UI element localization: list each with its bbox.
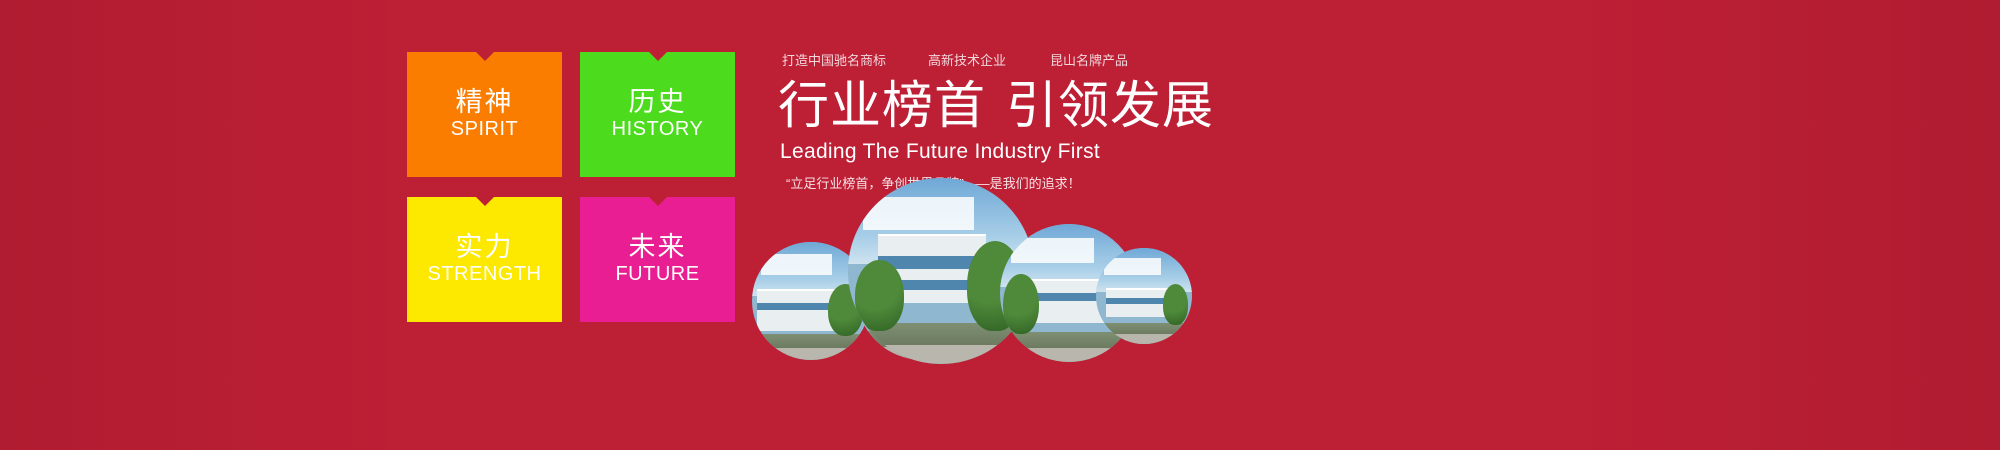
building-band xyxy=(1106,298,1169,304)
badge-hightech: 高新技术企业 xyxy=(928,52,1006,70)
tile-spirit-cn: 精神 xyxy=(456,87,514,117)
tile-strength-cn: 实力 xyxy=(456,232,514,262)
tile-spirit-en: SPIRIT xyxy=(451,117,518,142)
tile-history-en: HISTORY xyxy=(612,117,704,142)
bubble-far-photo xyxy=(1096,248,1192,344)
tile-future-en: FUTURE xyxy=(615,262,699,287)
tile-spirit[interactable]: 精神 SPIRIT xyxy=(407,52,562,177)
cloud-shape xyxy=(1011,238,1094,263)
notch-icon xyxy=(649,52,667,61)
page-title: 行业榜首引领发展 xyxy=(778,76,1418,136)
headline-block: 打造中国驰名商标 高新技术企业 昆山名牌产品 行业榜首引领发展 Leading … xyxy=(778,52,1418,194)
headline-part-1: 行业榜首 xyxy=(778,77,986,134)
tile-future[interactable]: 未来 FUTURE xyxy=(580,197,735,322)
headline-subtitle: Leading The Future Industry First xyxy=(780,138,1418,166)
road-area xyxy=(1000,348,1138,362)
background-left-gradient xyxy=(0,0,400,450)
promo-banner: 精神 SPIRIT 历史 HISTORY 实力 STRENGTH 未来 FUTU… xyxy=(0,0,2000,450)
tile-future-cn: 未来 xyxy=(629,232,687,262)
cloud-shape xyxy=(863,197,975,230)
cloud-shape xyxy=(1104,258,1162,275)
tile-strength[interactable]: 实力 STRENGTH xyxy=(407,197,562,322)
headline-part-2: 引领发展 xyxy=(1006,77,1214,134)
cloud-shape xyxy=(761,254,832,275)
badge-brand: 昆山名牌产品 xyxy=(1050,52,1128,70)
tree-shape xyxy=(1003,274,1039,335)
tree-shape xyxy=(1163,284,1188,324)
notch-icon xyxy=(649,197,667,206)
badge-trademark: 打造中国驰名商标 xyxy=(782,52,886,70)
notch-icon xyxy=(476,197,494,206)
tree-shape xyxy=(855,260,903,331)
background-right-gradient xyxy=(1580,0,2000,450)
tile-history[interactable]: 历史 HISTORY xyxy=(580,52,735,177)
credential-badges: 打造中国驰名商标 高新技术企业 昆山名牌产品 xyxy=(778,52,1418,70)
notch-icon xyxy=(476,52,494,61)
value-tiles-grid: 精神 SPIRIT 历史 HISTORY 实力 STRENGTH 未来 FUTU… xyxy=(407,52,727,322)
facility-photo-cluster xyxy=(752,190,1172,350)
road-area xyxy=(1096,334,1192,344)
building-band xyxy=(757,303,840,310)
tile-history-cn: 历史 xyxy=(629,87,687,117)
tile-strength-en: STRENGTH xyxy=(428,262,542,287)
